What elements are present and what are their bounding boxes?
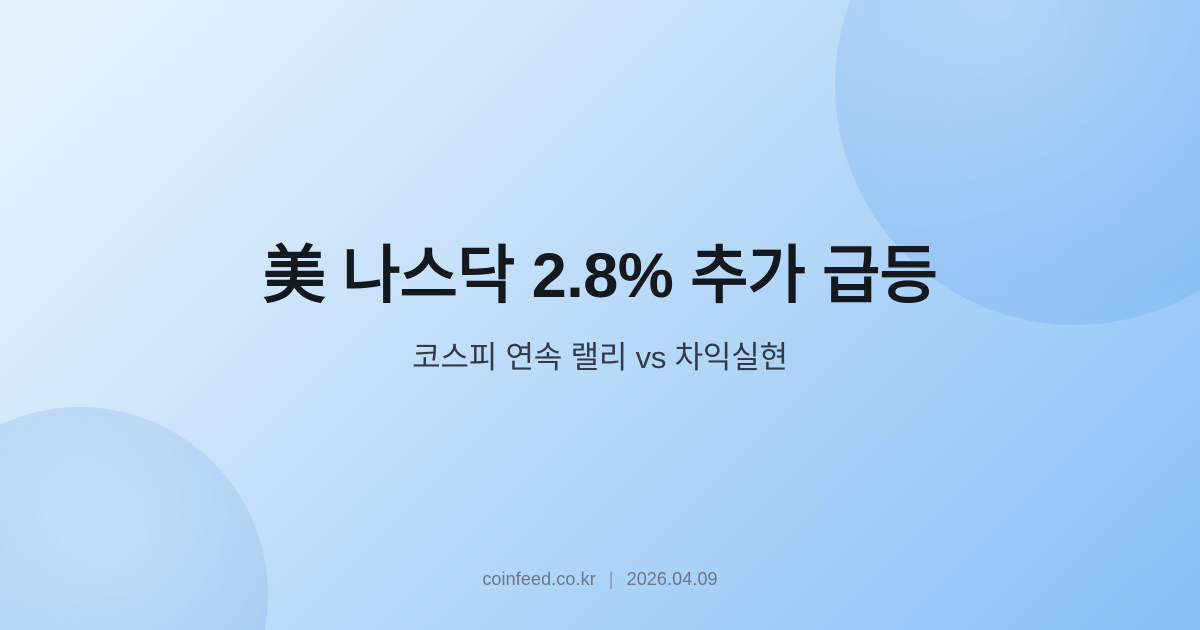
footer-site-name: coinfeed.co.kr [482, 569, 595, 590]
page-subtitle: 코스피 연속 랠리 vs 차익실현 [352, 337, 848, 379]
page-title: 美 나스닥 2.8% 추가 급등 [203, 239, 997, 313]
card-content: 美 나스닥 2.8% 추가 급등 코스피 연속 랠리 vs 차익실현 [0, 0, 1200, 630]
card-footer: coinfeed.co.kr | 2026.04.09 [0, 569, 1200, 590]
footer-date: 2026.04.09 [627, 569, 718, 590]
footer-separator: | [609, 569, 614, 590]
social-share-card: 美 나스닥 2.8% 추가 급등 코스피 연속 랠리 vs 차익실현 coinf… [0, 0, 1200, 630]
